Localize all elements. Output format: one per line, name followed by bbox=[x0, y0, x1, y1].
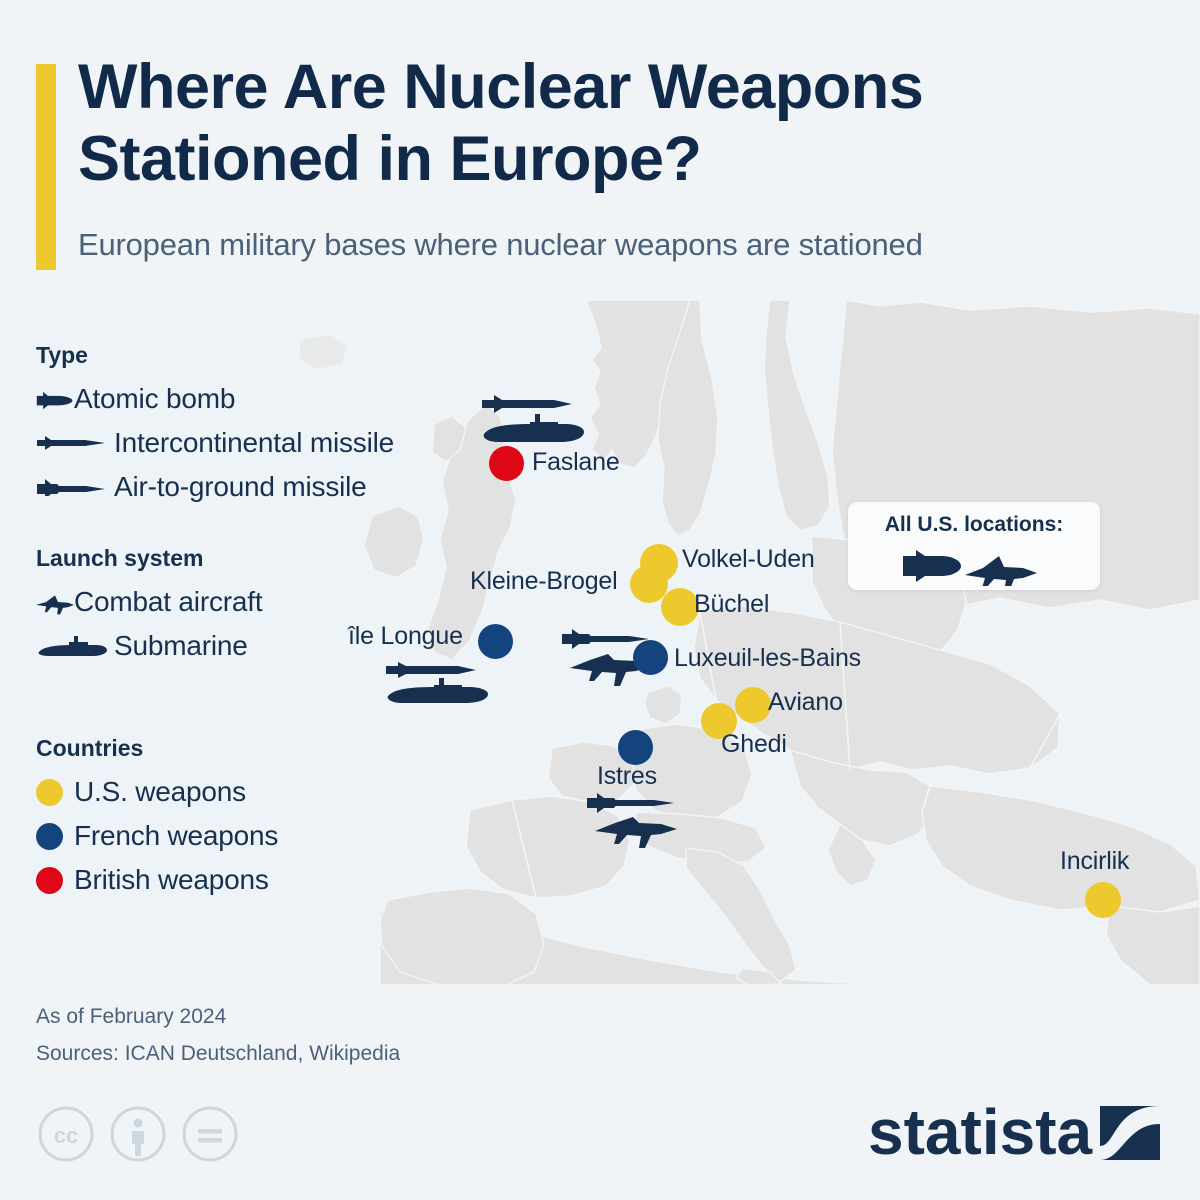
atomic-bomb-icon bbox=[903, 550, 961, 582]
label-istres: Istres bbox=[597, 762, 657, 791]
legend-item-label: U.S. weapons bbox=[74, 776, 246, 808]
legend-item-french-weapons: French weapons bbox=[36, 814, 278, 858]
label-kleine-brogel: Kleine-Brogel bbox=[470, 567, 618, 596]
legend-item-label: Air-to-ground missile bbox=[114, 471, 367, 503]
all-us-locations-title: All U.S. locations: bbox=[848, 513, 1100, 537]
all-us-locations-box: All U.S. locations: bbox=[848, 502, 1100, 590]
label-buchel: Büchel bbox=[694, 590, 769, 619]
air-to-ground-missile-icon bbox=[36, 478, 114, 496]
marker-istres[interactable] bbox=[618, 730, 653, 765]
license-icons: cc bbox=[36, 1104, 256, 1169]
legend-countries-heading: Countries bbox=[36, 735, 278, 762]
statista-logo: statista bbox=[868, 1096, 1168, 1177]
combat-aircraft-icon bbox=[36, 586, 74, 618]
statista-wordmark: statista bbox=[868, 1096, 1093, 1168]
legend-item-label: British weapons bbox=[74, 864, 269, 896]
svg-text:cc: cc bbox=[54, 1123, 78, 1148]
marker-luxeuil-les-bains[interactable] bbox=[633, 640, 668, 675]
infographic-root: Where Are Nuclear Weapons Stationed in E… bbox=[0, 0, 1200, 1200]
legend-item-label: French weapons bbox=[74, 820, 278, 852]
label-ile-longue: île Longue bbox=[348, 622, 463, 651]
intercontinental-missile-icon bbox=[482, 395, 572, 413]
label-faslane: Faslane bbox=[532, 448, 620, 477]
combat-aircraft-icon bbox=[595, 817, 677, 848]
title-accent-bar bbox=[36, 64, 56, 270]
marker-incirlik[interactable] bbox=[1085, 882, 1121, 918]
legend-item-label: Atomic bomb bbox=[74, 383, 235, 415]
atomic-bomb-icon bbox=[36, 388, 74, 410]
intercontinental-missile-icon bbox=[36, 435, 114, 451]
no-derivatives-icon bbox=[184, 1108, 236, 1160]
legend-item-british-weapons: British weapons bbox=[36, 858, 278, 902]
legend-item-label: Combat aircraft bbox=[74, 586, 262, 618]
legend-launch-system: Launch system Combat aircraft Subma bbox=[36, 545, 262, 668]
legend-item-us-weapons: U.S. weapons bbox=[36, 770, 278, 814]
legend-type-heading: Type bbox=[36, 342, 394, 369]
atomic-bomb-and-combat-aircraft-icons bbox=[899, 546, 1049, 586]
legend-item-atomic-bomb: Atomic bomb bbox=[36, 377, 394, 421]
legend-launch-system-heading: Launch system bbox=[36, 545, 262, 572]
as-of-date: As of February 2024 bbox=[36, 1005, 226, 1029]
marker-ile-longue[interactable] bbox=[478, 624, 513, 659]
page-subtitle: European military bases where nuclear we… bbox=[78, 227, 1188, 263]
marker-aviano[interactable] bbox=[735, 687, 771, 723]
dot-icon bbox=[36, 779, 74, 806]
air-to-ground-missile-icon bbox=[562, 629, 591, 649]
air-to-ground-missile-and-combat-aircraft-icons bbox=[585, 790, 683, 858]
dot-icon bbox=[36, 823, 74, 850]
dot-icon bbox=[36, 867, 74, 894]
submarine-icon bbox=[388, 687, 488, 703]
ile-longue-weapon-icons bbox=[382, 660, 492, 713]
label-volkel-uden: Volkel-Uden bbox=[682, 545, 815, 574]
legend-item-label: Submarine bbox=[114, 630, 248, 662]
combat-aircraft-icon bbox=[965, 556, 1037, 586]
intercontinental-missile-and-submarine-icons bbox=[382, 660, 492, 708]
label-aviano: Aviano bbox=[768, 688, 843, 717]
legend-item-submarine: Submarine bbox=[36, 624, 262, 668]
label-incirlik: Incirlik bbox=[1060, 847, 1129, 876]
legend-type: Type Atomic bomb Intercontinental missil… bbox=[36, 342, 394, 509]
istres-weapon-icons bbox=[585, 790, 683, 863]
legend-item-label: Intercontinental missile bbox=[114, 427, 394, 459]
intercontinental-missile-and-submarine-icons bbox=[478, 392, 588, 454]
legend-item-air-to-ground-missile: Air-to-ground missile bbox=[36, 465, 394, 509]
intercontinental-missile-icon bbox=[386, 662, 476, 678]
label-luxeuil-les-bains: Luxeuil-les-Bains bbox=[674, 644, 861, 673]
submarine-icon bbox=[36, 634, 114, 658]
sources-line: Sources: ICAN Deutschland, Wikipedia bbox=[36, 1042, 400, 1066]
marker-faslane[interactable] bbox=[489, 446, 524, 481]
page-title: Where Are Nuclear Weapons Stationed in E… bbox=[78, 52, 1168, 196]
air-to-ground-missile-icon bbox=[587, 793, 616, 813]
submarine-icon bbox=[484, 424, 584, 442]
legend-item-intercontinental-missile: Intercontinental missile bbox=[36, 421, 394, 465]
all-us-locations-icons bbox=[848, 546, 1100, 591]
legend-item-combat-aircraft: Combat aircraft bbox=[36, 580, 262, 624]
label-ghedi: Ghedi bbox=[721, 730, 787, 759]
legend-countries: Countries U.S. weapons French weapons Br… bbox=[36, 735, 278, 902]
